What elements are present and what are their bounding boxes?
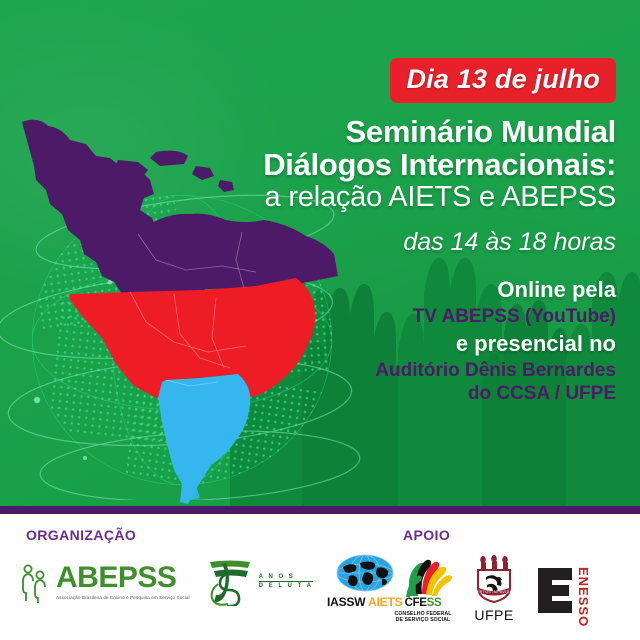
organizacao-label: ORGANIZAÇÃO: [26, 527, 136, 543]
title-line-2: Diálogos Internacionais:: [196, 149, 616, 182]
title-line-3: a relação AIETS e ABEPSS: [196, 182, 616, 214]
iassw-text: IASSW: [327, 595, 365, 609]
where-line-presencial: e presencial no: [196, 331, 616, 357]
ufpe-logo: VIRTUS IMPAVIDA UFPE: [470, 555, 518, 623]
where-line-ccsa-ufpe: do CCSA / UFPE: [196, 383, 616, 406]
abepss-wordmark: ABEPSS: [56, 563, 190, 593]
anos-line-2: D E L U T A: [259, 581, 313, 591]
cfe-text: CFE: [405, 597, 427, 609]
seventy-five-mark-icon: [204, 558, 256, 606]
ufpe-wordmark: UFPE: [474, 607, 513, 623]
title-line-1: Seminário Mundial: [196, 116, 616, 149]
poster-text-block: Dia 13 de julho Seminário Mundial Diálog…: [196, 0, 616, 406]
enesso-wordmark: ENESSO: [577, 567, 590, 627]
event-poster: Dia 13 de julho Seminário Mundial Diálog…: [0, 0, 640, 640]
event-time: das 14 às 18 horas: [196, 228, 616, 257]
poster-footer: ORGANIZAÇÃO APOIO ABEPSS: [0, 514, 640, 640]
abepss-logo: ABEPSS Associação Brasileira de Ensino e…: [20, 560, 190, 604]
anos-line-1: A N O S: [259, 573, 313, 582]
where-block: Online pela TV ABEPSS (YouTube) e presen…: [196, 277, 616, 406]
where-line-tv-abepss: TV ABEPSS (YouTube): [196, 306, 616, 329]
abepss-people-icon: [20, 560, 50, 604]
cfess-logo: CFESS CONSELHO FEDERAL DE SERVIÇO SOCIAL: [392, 554, 454, 624]
where-line-online: Online pela: [196, 277, 616, 303]
abepss-75-anos-logo: A N O S D E L U T A: [204, 558, 313, 606]
cfess-wordmark: CFESS: [405, 598, 442, 610]
enesso-e-mark-icon: [534, 565, 576, 613]
enesso-logo: ENESSO: [534, 565, 588, 613]
ufpe-motto: VIRTUS IMPAVIDA: [476, 590, 513, 594]
abepss-tagline: Associação Brasileira de Ensino e Pesqui…: [56, 595, 190, 600]
apoio-label: APOIO: [403, 527, 450, 543]
cfess-mark-icon: [392, 554, 454, 598]
cfess-subtitle-line-2: DE SERVIÇO SOCIAL: [396, 617, 451, 624]
ss-text: SS: [427, 597, 442, 609]
poster-hero: Dia 13 de julho Seminário Mundial Diálog…: [0, 0, 640, 506]
globe-icon: [336, 554, 394, 594]
ufpe-crest-icon: VIRTUS IMPAVIDA: [470, 555, 518, 605]
apoio-logos: CFESS CONSELHO FEDERAL DE SERVIÇO SOCIAL: [392, 554, 588, 624]
purple-divider: [0, 506, 640, 514]
date-badge: Dia 13 de julho: [390, 58, 616, 103]
where-line-auditorio: Auditório Dênis Bernardes: [196, 360, 616, 383]
organizacao-logos: ABEPSS Associação Brasileira de Ensino e…: [20, 554, 402, 609]
